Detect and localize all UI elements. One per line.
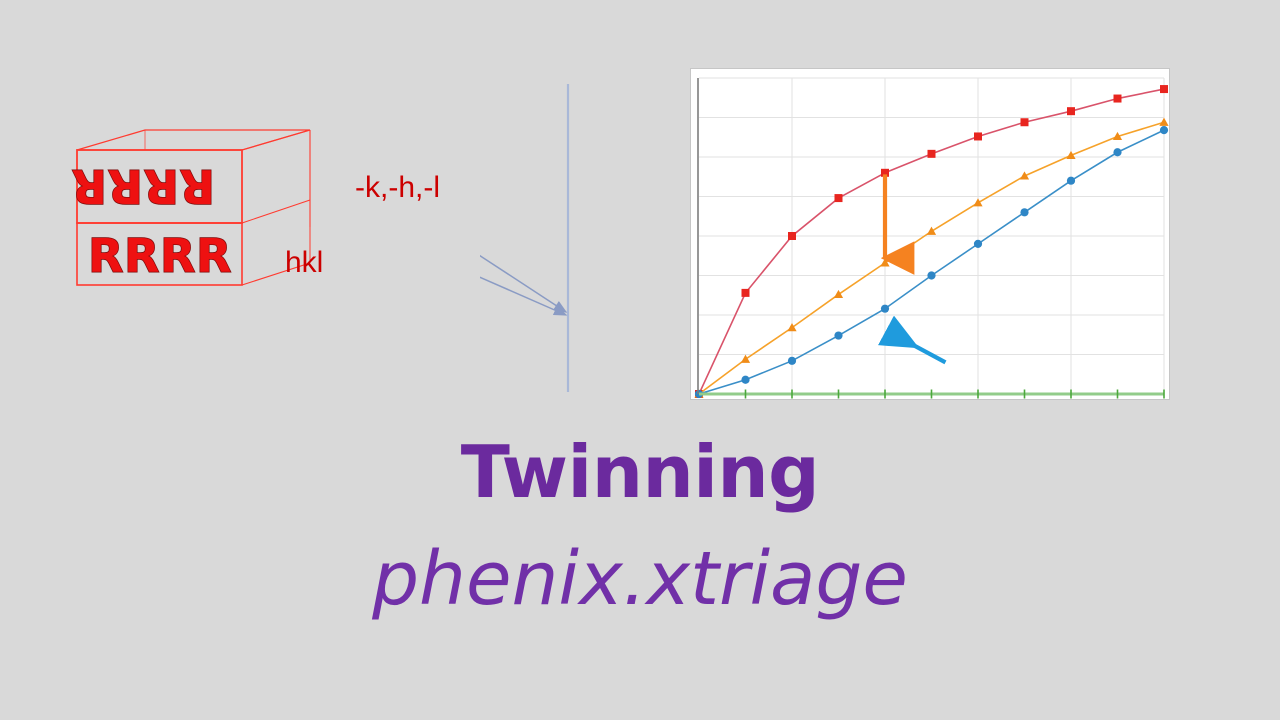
- data-point-perfect-twin: [880, 258, 889, 266]
- page-subtitle: phenix.xtriage: [0, 534, 1280, 624]
- data-point-untwinned: [1021, 118, 1029, 126]
- letter-r-bottom-2: R: [124, 229, 159, 283]
- label-minus-k-minus-h-minus-l: -k,-h,-l: [355, 171, 440, 204]
- data-point-observed: [741, 376, 749, 384]
- data-point-untwinned: [742, 289, 750, 297]
- letter-r-top-3: R: [144, 159, 179, 213]
- data-point-perfect-twin: [834, 290, 843, 298]
- label-hkl: hkl: [285, 246, 323, 279]
- letter-r-bottom-3: R: [160, 229, 195, 283]
- data-point-untwinned: [1067, 107, 1075, 115]
- data-point-observed: [1160, 126, 1168, 134]
- data-point-perfect-twin: [787, 323, 796, 331]
- data-point-observed: [1113, 148, 1121, 156]
- slide-canvas: R R R R R R R R -k,-h,-l hkl: [0, 0, 1280, 720]
- data-point-observed: [1020, 208, 1028, 216]
- data-point-untwinned: [928, 150, 936, 158]
- chart-annotations: [885, 174, 945, 362]
- letter-r-bottom-1: R: [88, 229, 123, 283]
- data-point-observed: [974, 240, 982, 248]
- letter-r-top-1: R: [72, 159, 107, 213]
- data-point-observed: [881, 305, 889, 313]
- letter-r-top-2: R: [108, 159, 143, 213]
- data-point-observed: [834, 331, 842, 339]
- data-point-perfect-twin: [741, 355, 750, 363]
- data-point-observed: [788, 357, 796, 365]
- data-point-untwinned: [835, 194, 843, 202]
- series-line-untwinned: [699, 89, 1164, 394]
- letter-r-bottom-4: R: [196, 229, 231, 283]
- data-point-perfect-twin: [1159, 118, 1168, 126]
- blue-left-arrow: [890, 332, 946, 362]
- data-point-perfect-twin: [1020, 171, 1029, 179]
- center-divider-layer: [480, 60, 620, 420]
- arrow-from-bottom-layer: [480, 183, 566, 315]
- cumulative-intensity-chart: [690, 68, 1170, 400]
- chart-gridlines: [699, 78, 1164, 394]
- data-point-perfect-twin: [973, 198, 982, 206]
- data-point-untwinned: [1114, 95, 1122, 103]
- chart-series: [694, 85, 1168, 398]
- bottom-layer-letters: R R R R: [88, 229, 231, 283]
- page-title: Twinning: [0, 432, 1280, 512]
- data-point-untwinned: [1160, 85, 1168, 93]
- data-point-observed: [1067, 177, 1075, 185]
- data-point-untwinned: [974, 132, 982, 140]
- data-point-perfect-twin: [927, 227, 936, 235]
- letter-r-top-4: R: [180, 159, 215, 213]
- data-point-untwinned: [788, 232, 796, 240]
- data-point-observed: [927, 271, 935, 279]
- top-layer-letters: R R R R: [72, 159, 215, 213]
